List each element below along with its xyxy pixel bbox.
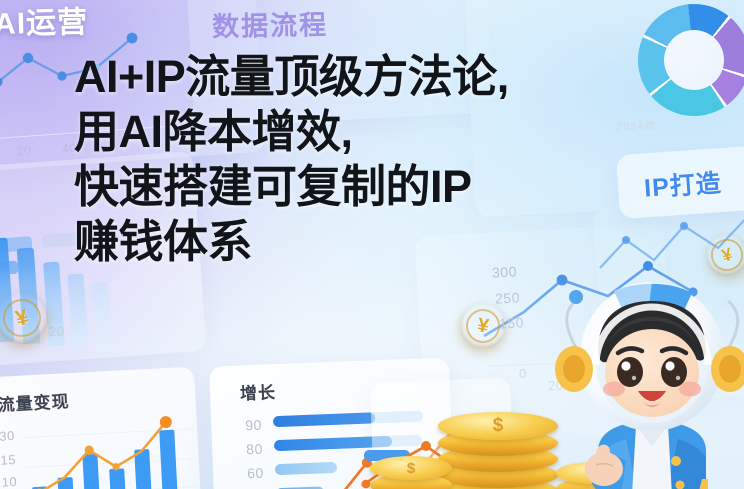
page-title: AI+IP流量顶级方法论, 用AI降本增效, 快速搭建可复制的IP 赚钱体系 (74, 50, 694, 270)
liuliang-ytick-15: 15 (0, 452, 16, 468)
dollar-symbol: $ (493, 415, 504, 437)
liuliang-ytick-10: 10 (1, 474, 17, 489)
card-growth-title: 增长 (240, 378, 277, 404)
tag-data-flow: 数据流程 (212, 3, 329, 44)
headline-line-3: 快速搭建可复制的IP (74, 160, 694, 215)
zengzhang-ytick-60: 60 (247, 465, 264, 482)
liuliang-ytick-30: 30 (0, 428, 15, 444)
dollar-symbol: $ (407, 460, 415, 477)
headline-line-2: 用AI降本增效, (74, 105, 694, 160)
coin-stack-main: $ (438, 404, 568, 489)
top-left-xtick-20: 20 (17, 144, 32, 159)
coin-disc-top: $ (370, 456, 452, 480)
astronaut-boy-mascot (552, 265, 744, 489)
zengzhang-ytick-80: 80 (246, 441, 263, 458)
coin-stack-left: $ (370, 450, 456, 489)
headline-line-4: 赚钱体系 (74, 215, 694, 270)
zengzhang-ytick-90: 90 (245, 417, 262, 434)
card-traffic-title: 流量变现 (0, 387, 70, 416)
tag-ai-operations: AI运营 (0, 0, 88, 43)
card-traffic-monetization: 流量变现 30 15 10 5 (0, 367, 202, 489)
poster-canvas: 20 40 20 2024年 300 250 150 0 20 流量变现 30 (0, 0, 744, 489)
liuliang-plot (22, 407, 200, 489)
coin-disc-top: $ (438, 412, 558, 440)
headline-line-1: AI+IP流量顶级方法论, (74, 50, 694, 105)
